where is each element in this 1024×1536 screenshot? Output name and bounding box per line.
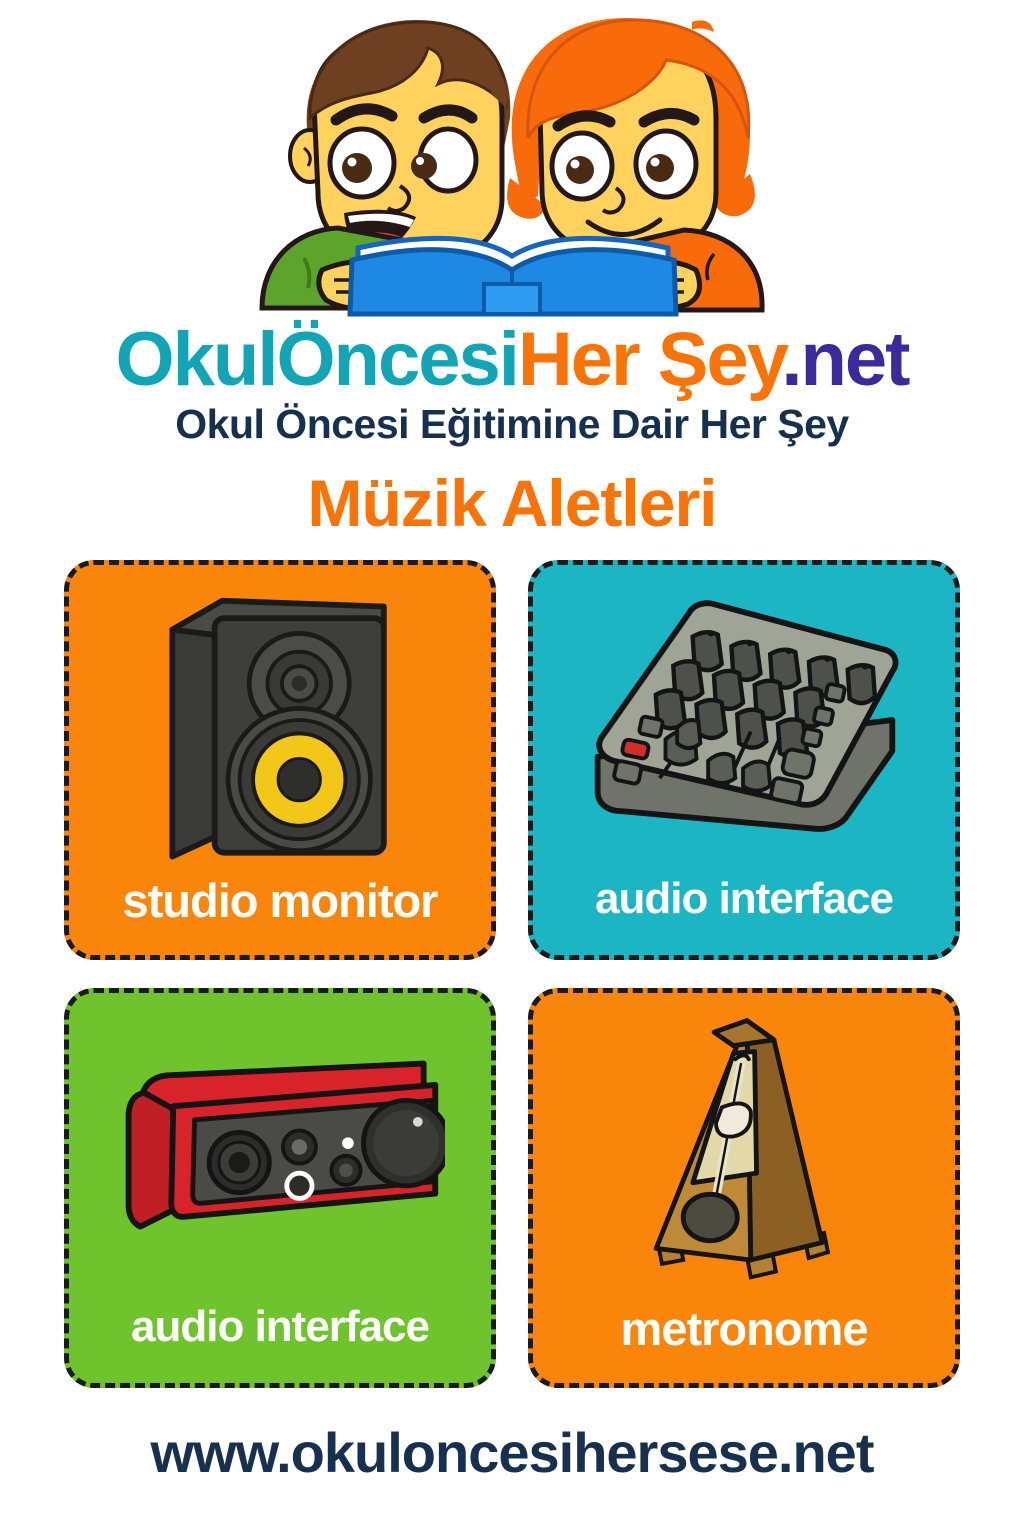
flashcard-label: studio monitor bbox=[69, 877, 491, 924]
page-title: Müzik Aletleri bbox=[0, 470, 1024, 536]
logo-part-hersey: Her Şey bbox=[518, 317, 781, 402]
two-children-reading-book-icon bbox=[252, 8, 772, 318]
flashcard-label: audio interface bbox=[69, 1305, 491, 1349]
flashcard-studio-monitor[interactable]: studio monitor bbox=[64, 560, 496, 960]
studio-monitor-icon bbox=[69, 565, 491, 875]
flashcard-page: OkulÖncesiHer Şey.net Okul Öncesi Eğitim… bbox=[0, 0, 1024, 1536]
metronome-icon bbox=[533, 993, 955, 1303]
flashcard-label: metronome bbox=[533, 1305, 955, 1352]
flashcard-metronome[interactable]: metronome bbox=[528, 988, 960, 1388]
flashcard-grid: studio monitor bbox=[64, 560, 960, 1400]
page-header: OkulÖncesiHer Şey.net Okul Öncesi Eğitim… bbox=[0, 0, 1024, 540]
site-logo-wordmark: OkulÖncesiHer Şey.net bbox=[0, 322, 1024, 398]
footer-website-url[interactable]: www.okuloncesihersese.net bbox=[0, 1420, 1024, 1485]
site-tagline: Okul Öncesi Eğitimine Dair Her Şey bbox=[0, 404, 1024, 445]
audio-mixer-icon bbox=[533, 565, 955, 875]
logo-part-okuloncesi: OkulÖncesi bbox=[116, 317, 518, 402]
flashcard-label: audio interface bbox=[533, 877, 955, 921]
logo-part-net: .net bbox=[781, 317, 908, 402]
flashcard-audio-mixer[interactable]: audio interface bbox=[528, 560, 960, 960]
flashcard-audio-interface-box[interactable]: audio interface bbox=[64, 988, 496, 1388]
audio-interface-box-icon bbox=[69, 993, 491, 1303]
